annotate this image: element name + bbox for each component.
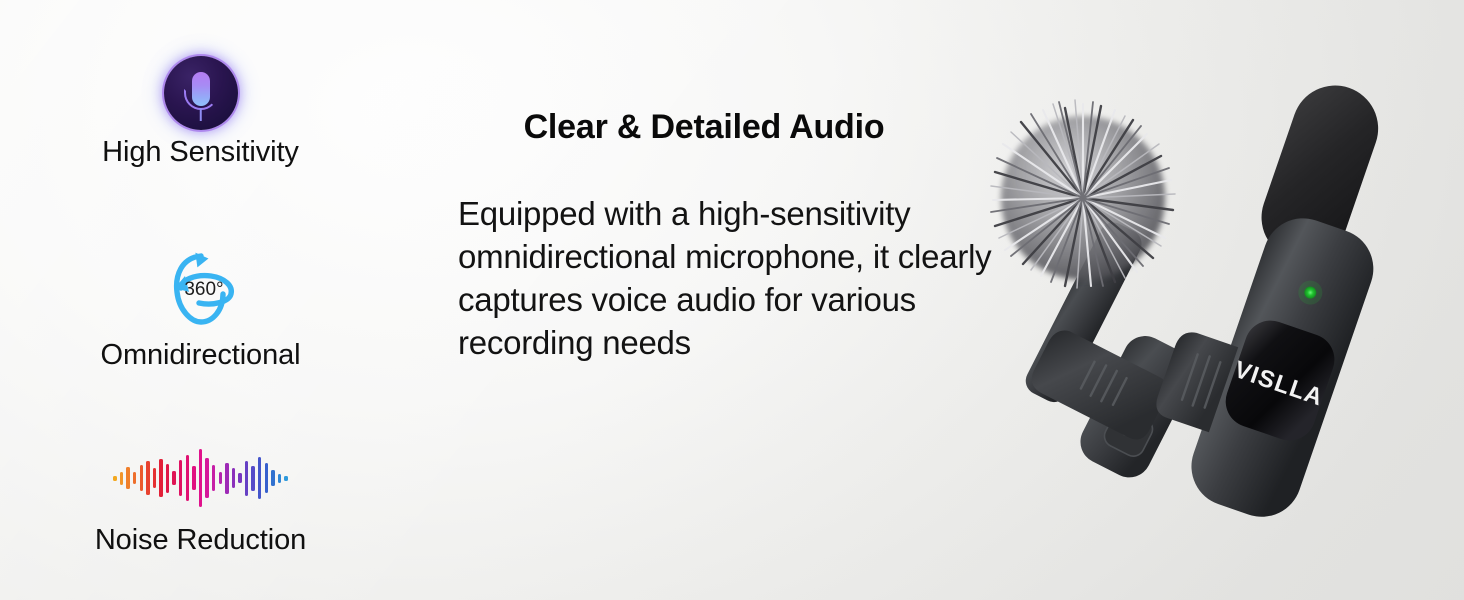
feature-label-high-sensitivity: High Sensitivity (102, 137, 299, 168)
furry-windscreen (991, 100, 1175, 288)
waveform-bar (179, 460, 182, 496)
waveform-bar (133, 472, 136, 484)
microphone-with-foam-windscreen: VISLLA (1152, 74, 1390, 528)
waveform-bar (238, 473, 241, 483)
waveform-bar (232, 468, 235, 488)
rotate-360-badge-text: 360° (184, 279, 223, 300)
headline: Clear & Detailed Audio (458, 108, 998, 147)
audio-waveform-icon (113, 448, 287, 508)
body-paragraph: Equipped with a high-sensitivity omnidir… (458, 193, 998, 365)
product-feature-banner: High Sensitivity 360° (0, 0, 1464, 600)
feature-item-high-sensitivity: High Sensitivity (28, 44, 373, 168)
waveform-bar (192, 466, 195, 490)
rotate-360-icon: 360° (155, 242, 247, 334)
waveform-bar (284, 476, 287, 481)
feature-item-omnidirectional: 360° Omnidirectional (28, 240, 373, 371)
feature-list: High Sensitivity 360° (28, 44, 373, 556)
copy-block: Clear & Detailed Audio Equipped with a h… (458, 108, 998, 365)
waveform-bar (166, 464, 169, 493)
waveform-bar (186, 455, 189, 501)
waveform-bar (126, 467, 129, 489)
waveform-bar (212, 465, 215, 491)
waveform-bar (172, 471, 175, 485)
waveform-bar (225, 463, 228, 494)
waveform-bar (140, 465, 143, 491)
microphone-with-furry-windscreen (991, 100, 1201, 485)
feature-label-noise-reduction: Noise Reduction (95, 525, 306, 556)
feature-label-omnidirectional: Omnidirectional (101, 340, 301, 371)
waveform-bar (146, 461, 149, 495)
product-image: VISLLA (965, 60, 1435, 550)
waveform-bar (199, 449, 202, 507)
microphone-circle-icon (164, 56, 238, 130)
waveform-bar (271, 470, 274, 486)
waveform-bar (278, 474, 281, 483)
feature-icon-wrap (113, 443, 287, 513)
waveform-bar (265, 463, 268, 493)
feature-icon-wrap: 360° (155, 240, 247, 336)
waveform-bar (251, 466, 254, 491)
waveform-bar (159, 459, 162, 497)
waveform-bar (219, 472, 222, 484)
feature-item-noise-reduction: Noise Reduction (28, 443, 373, 556)
waveform-bar (245, 461, 248, 496)
waveform-bar (258, 457, 261, 499)
waveform-bar (120, 472, 123, 485)
waveform-bar (153, 468, 156, 488)
waveform-bar (113, 476, 116, 481)
waveform-bar (205, 458, 208, 498)
feature-icon-wrap (164, 44, 238, 130)
